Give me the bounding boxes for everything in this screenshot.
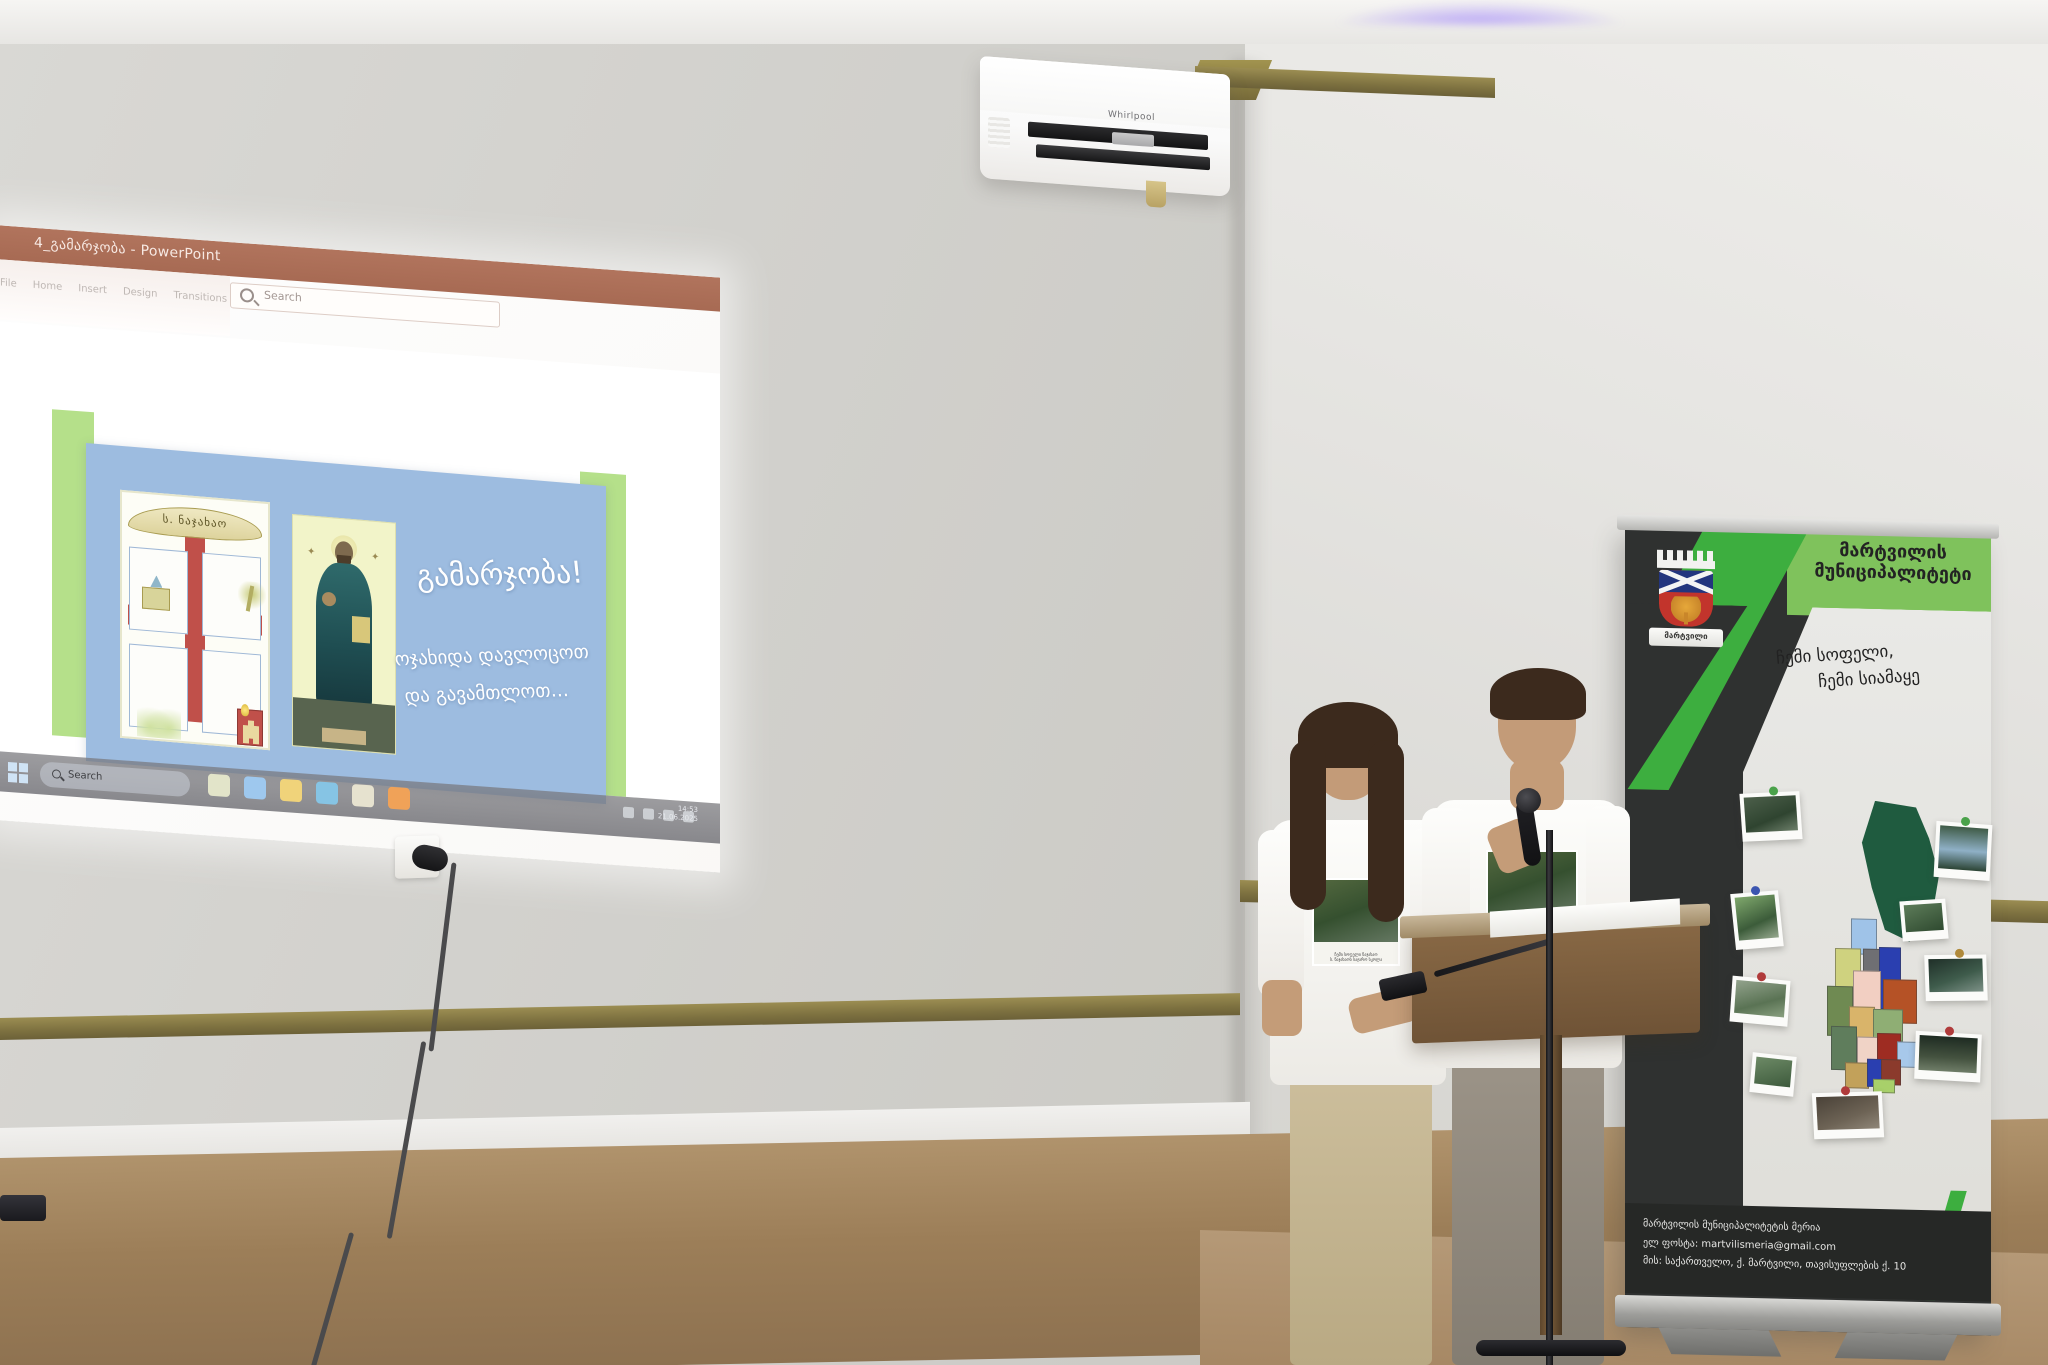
air-conditioner: Whirlpool [980, 56, 1230, 197]
icon-sparkle-left: ✦ [307, 546, 317, 557]
powerpoint-search-placeholder: Search [264, 289, 302, 305]
golden-tree-icon [1671, 596, 1701, 623]
start-button-icon[interactable] [8, 762, 28, 783]
slide-subtext-line2: და გავამთლოთ... [403, 679, 569, 708]
pushpin-2 [1961, 817, 1970, 826]
municipality-coat-of-arms: მარტვილი [1649, 550, 1723, 648]
tab-home[interactable]: Home [33, 280, 63, 293]
emblem-scroll-label: ს. ნაჯახაო [129, 509, 261, 533]
emblem-ribbon-scroll: ს. ნაჯახაო [128, 502, 262, 543]
pinned-photo-3 [1730, 890, 1784, 950]
photo-scene: Whirlpool 4_გამარჯობა - PowerPoint File … [0, 0, 2048, 1365]
pinned-photo-5 [1729, 976, 1790, 1027]
tab-file[interactable]: File [0, 277, 17, 289]
crest-ribbon: მარტვილი [1649, 628, 1723, 648]
projected-screen: 4_გამარჯობა - PowerPoint File Home Inser… [0, 225, 720, 873]
emblem-quarter-vine [129, 644, 187, 732]
pinned-photo-7 [1812, 1091, 1884, 1139]
ceiling-led-glow [1330, 0, 1630, 24]
emblem-quarter-wheat [202, 552, 260, 640]
saint-statue-base [293, 697, 395, 753]
icon-sparkle-right: ✦ [371, 552, 381, 563]
presenter-right-hair [1490, 668, 1586, 720]
village-coat-of-arms: ს. ნაჯახაო [120, 490, 270, 750]
emblem-quarter-church [129, 546, 187, 634]
banner-stand-foot-right [1835, 1332, 1958, 1360]
edge-icon[interactable] [244, 776, 266, 800]
microphone-stand [1546, 830, 1553, 1365]
church-body [142, 586, 170, 610]
presenter-left-hair-right [1368, 740, 1404, 922]
pushpin-3 [1751, 886, 1760, 895]
slogan-line1: ჩემი სოფელი, [1775, 641, 1894, 668]
pinned-photo-4 [1924, 954, 1988, 1001]
slide-subtext-line1: ოჯახიდა დავლოცოთ [393, 641, 590, 671]
chevron-up-icon[interactable] [623, 807, 634, 819]
file-explorer-icon[interactable] [208, 774, 230, 798]
pushpin-7 [1841, 1086, 1850, 1095]
ac-display-panel [1112, 132, 1154, 147]
slide-heading: გამარჯობა! [415, 555, 585, 594]
banner-title-line2: მუნიციპალიტეტი [1801, 560, 1985, 586]
wheat-icon [238, 581, 266, 615]
crest-blue-field [1659, 570, 1713, 594]
browser-icon[interactable] [316, 781, 338, 805]
pushpin-6 [1945, 1027, 1954, 1036]
ac-drain-pipe [1146, 180, 1166, 208]
presenter-right-trousers [1452, 1048, 1604, 1365]
pinned-photo-6 [1914, 1031, 1982, 1083]
presenter-left-print-caption: ჩემი სოფელი ნაჯახაო ს. ნაჯახაოს საჯარო ს… [1314, 952, 1398, 962]
mural-crown-base [1657, 560, 1715, 569]
saint-icon-image: ✦ ✦ [292, 514, 396, 755]
banner-stand-foot-left [1659, 1328, 1782, 1357]
tab-insert[interactable]: Insert [78, 283, 107, 296]
banner-contact-block: მარტვილის მუნიციპალიტეტის მერია ელ ფოსტა… [1643, 1215, 1906, 1277]
pinned-photo-1 [1739, 791, 1802, 842]
tee-caption-line2: ს. ნაჯახაოს საჯარო სკოლა [1314, 957, 1398, 962]
crest-shield [1659, 570, 1713, 627]
wall-mounted-device [0, 1195, 46, 1221]
pushpin-1 [1769, 786, 1778, 795]
powerpoint-slide-area: ს. ნაჯახაო ✦ ✦ [0, 321, 720, 804]
network-icon[interactable] [643, 808, 654, 820]
saint-plinth [322, 728, 366, 746]
church-roof [150, 575, 162, 588]
presenter-left-hair-left [1290, 740, 1326, 910]
grapevine-icon [137, 702, 181, 740]
ac-side-grille [988, 117, 1010, 149]
saint-scroll [352, 616, 370, 643]
presentation-slide: ს. ნაჯახაო ✦ ✦ [86, 443, 606, 804]
projection-content: 4_გამარჯობა - PowerPoint File Home Inser… [0, 225, 720, 873]
taskbar-search-icon [52, 769, 61, 779]
pushpin-5 [1757, 972, 1766, 981]
presenter-left-forearm-left [1262, 980, 1302, 1036]
ac-brand-label: Whirlpool [1108, 110, 1155, 124]
pinned-photo-2 [1934, 821, 1993, 881]
store-icon[interactable] [352, 784, 374, 808]
powerpoint-title: 4_გამარჯობა - PowerPoint [34, 235, 221, 265]
banner-footer: მარტვილის მუნიციპალიტეტის მერია ელ ფოსტა… [1625, 1203, 1991, 1302]
taskbar-clock[interactable]: 14:53 21.06.2025 [658, 803, 698, 825]
microphone-base [1476, 1340, 1626, 1356]
emblem-quarter-book [202, 650, 260, 738]
firefox-icon[interactable] [388, 787, 410, 811]
pinned-photo-9 [1899, 899, 1948, 942]
crest-ribbon-label: მარტვილი [1649, 631, 1723, 642]
search-icon [240, 288, 254, 303]
candle-flame-icon [241, 704, 249, 717]
church-icon [140, 574, 174, 611]
folder-icon[interactable] [280, 779, 302, 803]
presenter-left-trousers [1290, 1060, 1432, 1365]
banner-title: მარტვილის მუნიციპალიტეტი [1801, 539, 1985, 586]
ceiling [0, 0, 2048, 44]
map-district-14 [1845, 1062, 1869, 1089]
pinned-photo-8 [1749, 1052, 1796, 1097]
microphone-head [1516, 788, 1541, 813]
pushpin-4 [1955, 949, 1964, 958]
